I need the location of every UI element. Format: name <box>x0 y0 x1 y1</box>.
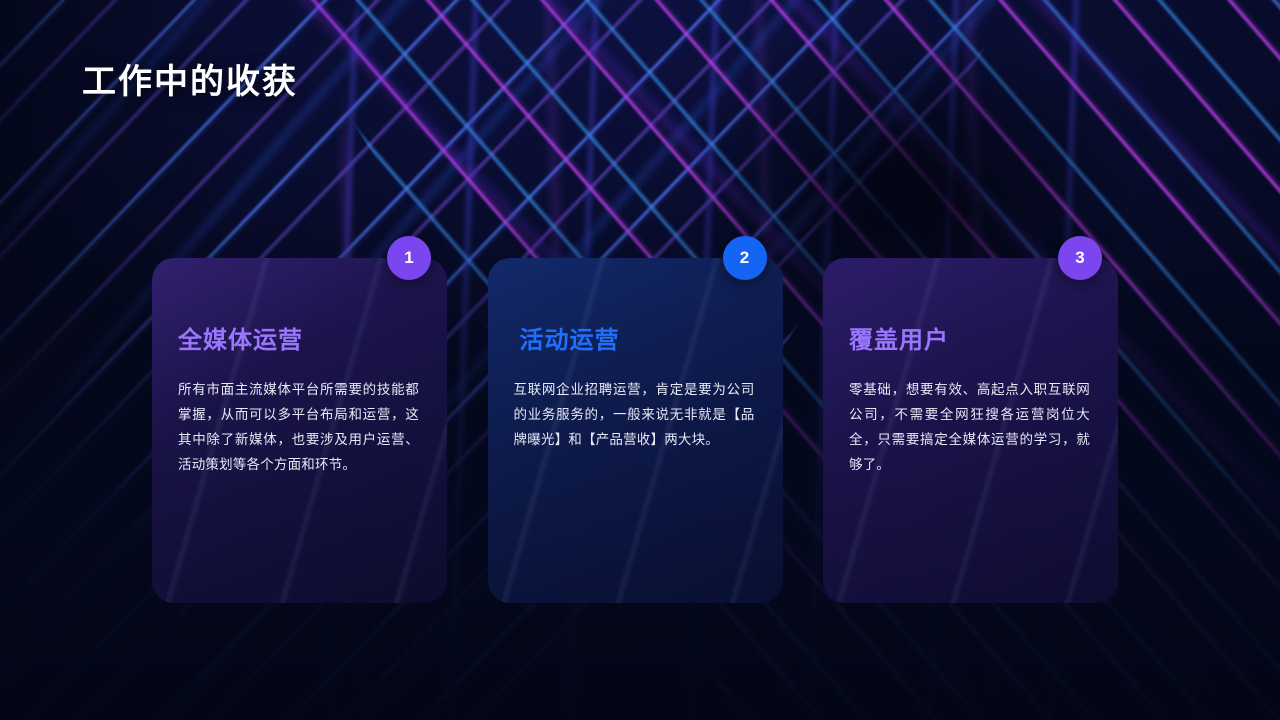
card-number-badge-1: 1 <box>387 236 431 280</box>
card-body-2: 互联网企业招聘运营，肯定是要为公司的业务服务的，一般来说无非就是【品牌曝光】和【… <box>514 377 755 452</box>
card-content-1: 全媒体运营 所有市面主流媒体平台所需要的技能都掌握，从而可以多平台布局和运营，这… <box>178 320 419 477</box>
card-content-3: 覆盖用户 零基础，想要有效、高起点入职互联网公司，不需要全网狂搜各运营岗位大全，… <box>849 320 1090 477</box>
page-title: 工作中的收获 <box>82 54 298 103</box>
cards-row: 1 全媒体运营 所有市面主流媒体平台所需要的技能都掌握，从而可以多平台布局和运营… <box>152 258 1118 603</box>
content-card-1[interactable]: 1 全媒体运营 所有市面主流媒体平台所需要的技能都掌握，从而可以多平台布局和运营… <box>152 258 447 603</box>
card-content-2: 活动运营 互联网企业招聘运营，肯定是要为公司的业务服务的，一般来说无非就是【品牌… <box>514 320 755 452</box>
card-title-1: 全媒体运营 <box>178 320 419 355</box>
card-title-2: 活动运营 <box>514 320 755 355</box>
presentation-slide: 工作中的收获 1 全媒体运营 所有市面主流媒体平台所需要的技能都掌握，从而可以多… <box>0 0 1280 720</box>
card-number-badge-3: 3 <box>1058 236 1102 280</box>
content-card-3[interactable]: 3 覆盖用户 零基础，想要有效、高起点入职互联网公司，不需要全网狂搜各运营岗位大… <box>823 258 1118 603</box>
card-title-3: 覆盖用户 <box>849 320 1090 355</box>
content-card-2[interactable]: 2 活动运营 互联网企业招聘运营，肯定是要为公司的业务服务的，一般来说无非就是【… <box>488 258 783 603</box>
card-body-3: 零基础，想要有效、高起点入职互联网公司，不需要全网狂搜各运营岗位大全，只需要搞定… <box>849 377 1090 477</box>
card-body-1: 所有市面主流媒体平台所需要的技能都掌握，从而可以多平台布局和运营，这其中除了新媒… <box>178 377 419 477</box>
card-number-badge-2: 2 <box>723 236 767 280</box>
